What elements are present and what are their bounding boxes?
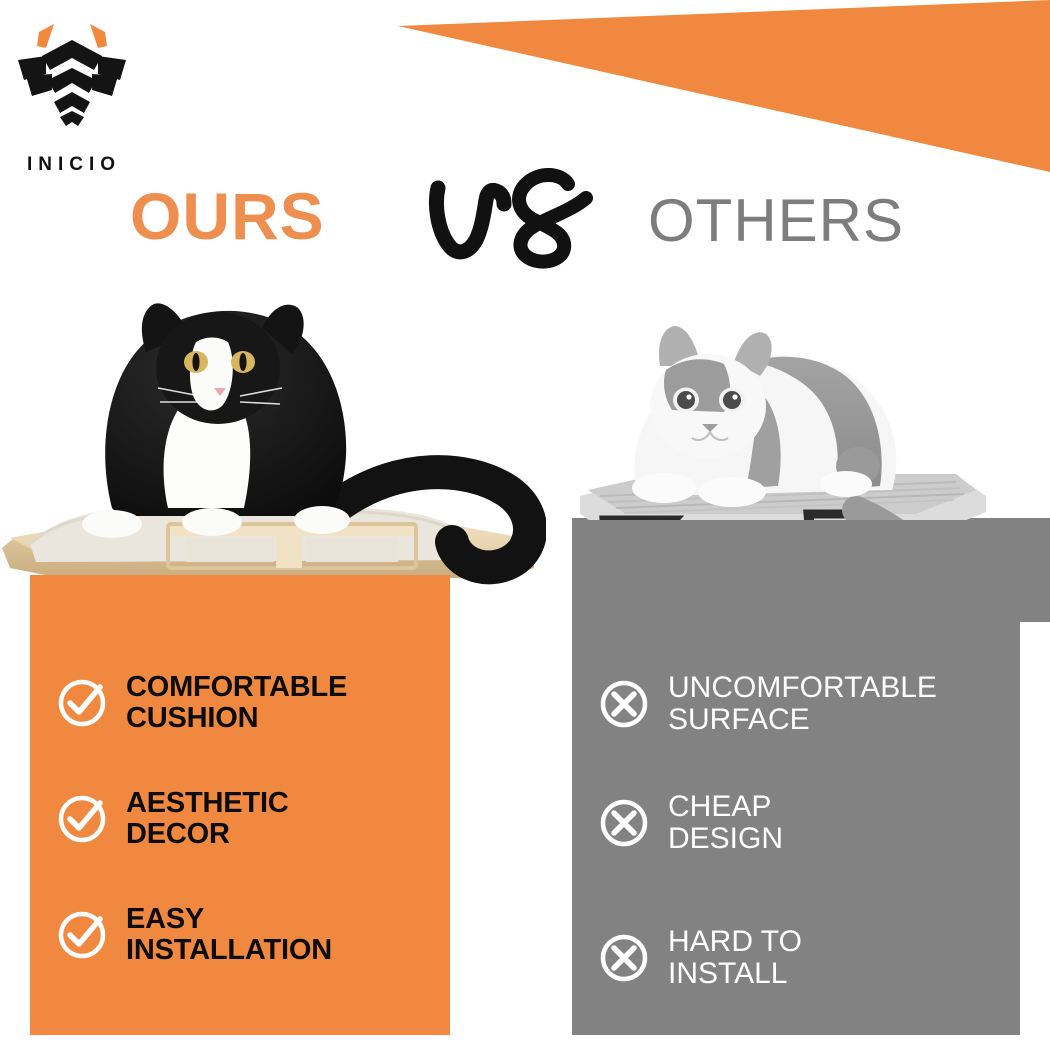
list-item[interactable]: HARD TO INSTALL	[572, 888, 1020, 1028]
list-item-label: HARD TO INSTALL	[668, 926, 1020, 990]
list-item-label: AESTHETIC DECOR	[126, 788, 450, 849]
list-item-label: UNCOMFORTABLE SURFACE	[668, 672, 1020, 736]
feature-line-2: INSTALLATION	[126, 935, 450, 966]
feature-line-2: SURFACE	[668, 704, 1020, 736]
feature-line-2: DESIGN	[668, 823, 1020, 855]
bee-chevron-logo-icon	[10, 18, 134, 130]
list-item[interactable]: AESTHETIC DECOR	[30, 766, 450, 871]
list-item-label: COMFORTABLE CUSHION	[126, 672, 450, 733]
x-circle-icon	[598, 932, 650, 984]
feature-line-1: CHEAP	[668, 791, 1020, 823]
comparison-title: OURS OTHERS	[0, 176, 1050, 274]
title-vs-script-icon	[420, 164, 600, 274]
comparison-infographic: INICIO OURS OTHERS	[0, 0, 1050, 1040]
feature-line-1: HARD TO	[668, 926, 1020, 958]
x-circle-icon	[598, 797, 650, 849]
ours-feature-list: COMFORTABLE CUSHION AESTHETIC DECOR	[30, 650, 450, 998]
others-feature-list: UNCOMFORTABLE SURFACE CHEAP DESIGN	[572, 650, 1020, 1039]
list-item[interactable]: CHEAP DESIGN	[572, 769, 1020, 877]
check-circle-icon	[56, 793, 108, 845]
list-item[interactable]: UNCOMFORTABLE SURFACE	[572, 650, 1020, 758]
feature-line-1: UNCOMFORTABLE	[668, 672, 1020, 704]
check-circle-icon	[56, 677, 108, 729]
others-panel: UNCOMFORTABLE SURFACE CHEAP DESIGN	[572, 520, 1020, 1035]
feature-line-1: EASY	[126, 904, 450, 935]
list-item[interactable]: EASY INSTALLATION	[30, 882, 450, 987]
x-circle-icon	[598, 678, 650, 730]
feature-line-2: DECOR	[126, 819, 450, 850]
feature-line-1: COMFORTABLE	[126, 672, 450, 703]
list-item-label: EASY INSTALLATION	[126, 904, 450, 965]
title-ours: OURS	[130, 178, 430, 254]
ours-panel: COMFORTABLE CUSHION AESTHETIC DECOR	[30, 575, 450, 1035]
feature-line-1: AESTHETIC	[126, 788, 450, 819]
feature-line-2: CUSHION	[126, 703, 450, 734]
product-photo-ours	[0, 276, 546, 608]
list-item-label: CHEAP DESIGN	[668, 791, 1020, 855]
check-circle-icon	[56, 909, 108, 961]
feature-line-2: INSTALL	[668, 958, 1020, 990]
list-item[interactable]: COMFORTABLE CUSHION	[30, 650, 450, 755]
brand-name: INICIO	[8, 154, 140, 176]
title-others: OTHERS	[648, 186, 978, 255]
brand-logo: INICIO	[8, 18, 140, 168]
